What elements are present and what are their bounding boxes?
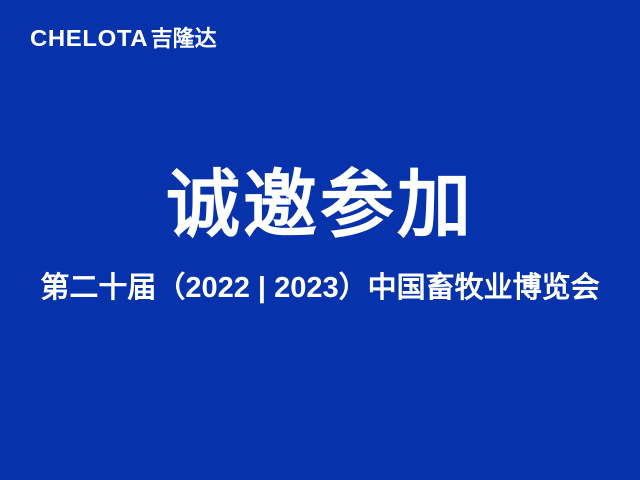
brand-logo: CHELOTA 吉隆达 <box>30 27 217 50</box>
page-title: 诚邀参加 <box>0 168 640 242</box>
event-subtitle: 第二十届（2022 | 2023）中国畜牧业博览会 <box>0 274 640 303</box>
hero-block: 诚邀参加 第二十届（2022 | 2023）中国畜牧业博览会 <box>0 168 640 303</box>
brand-chinese-name: 吉隆达 <box>151 28 217 50</box>
brand-latin-name: CHELOTA <box>30 27 148 50</box>
invitation-poster: CHELOTA 吉隆达 诚邀参加 第二十届（2022 | 2023）中国畜牧业博… <box>0 0 640 480</box>
